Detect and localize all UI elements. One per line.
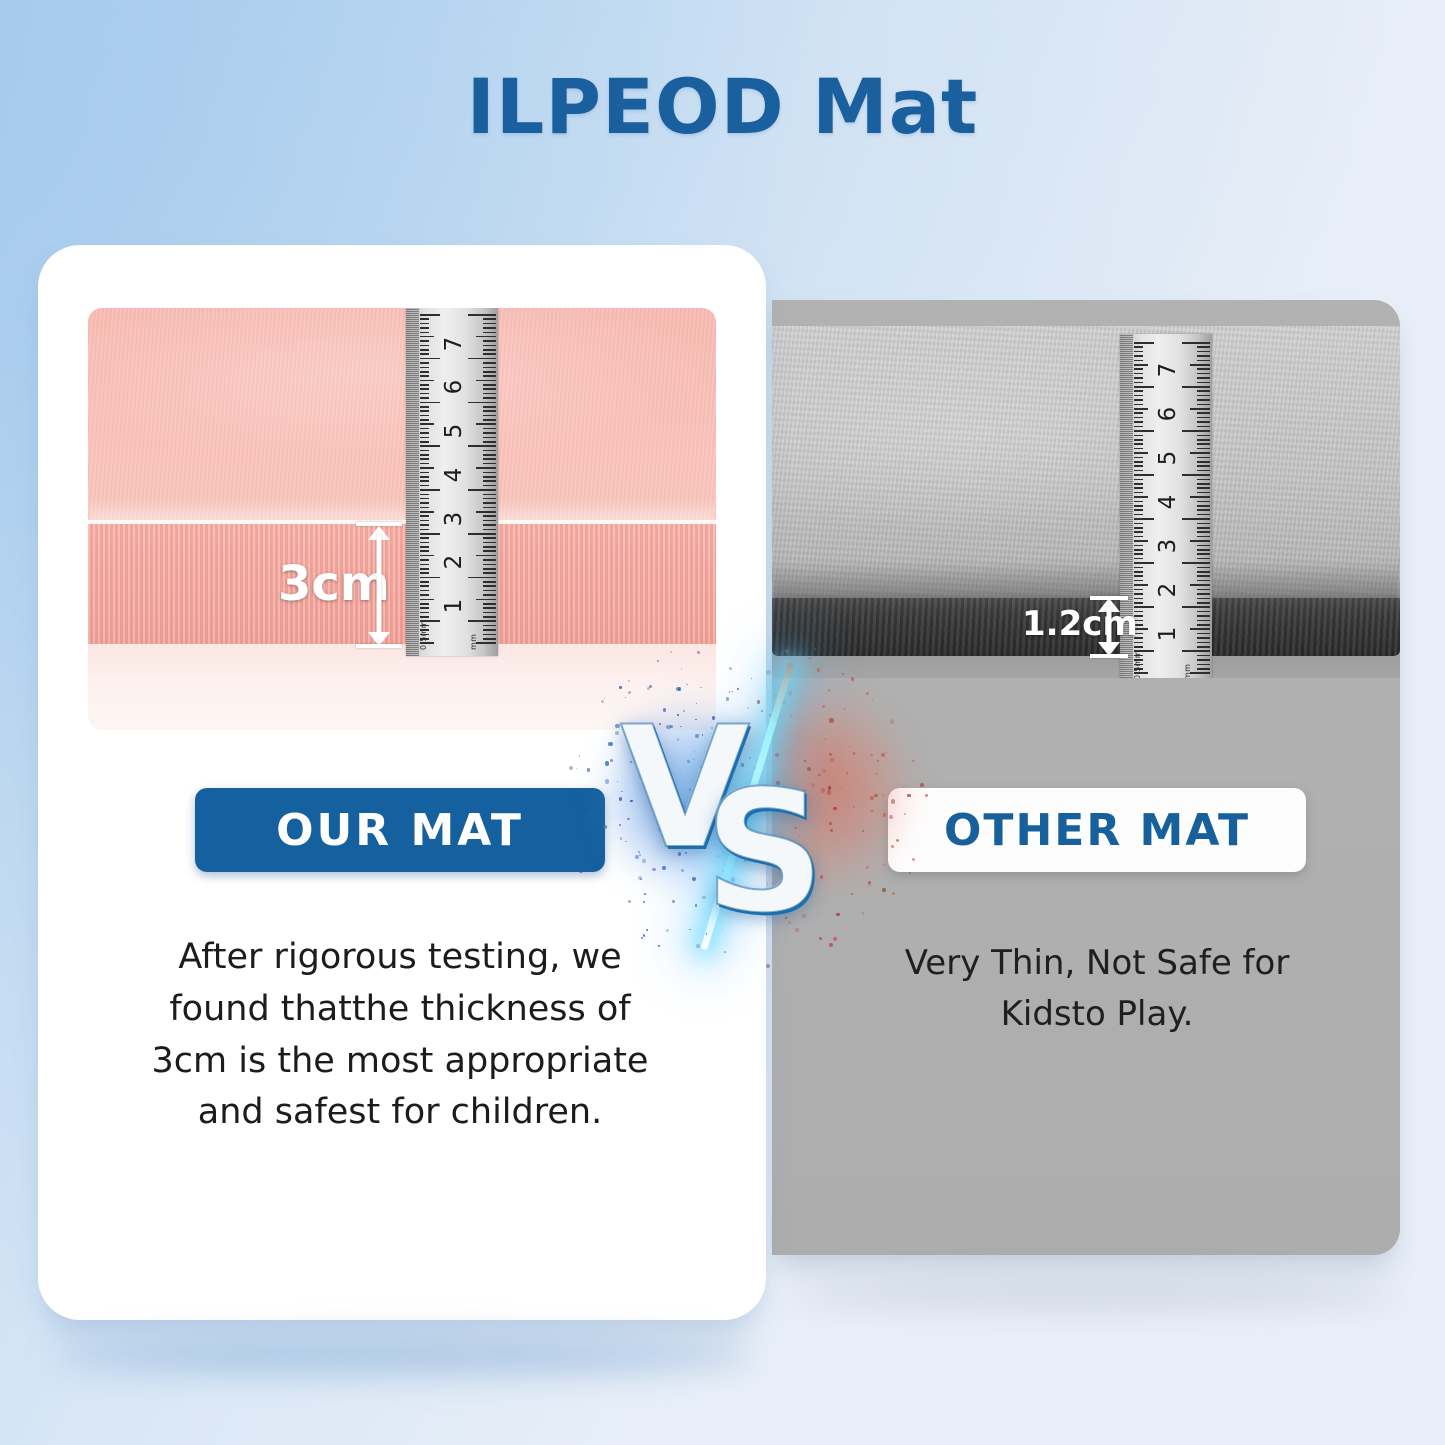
ruler-tick [1197, 593, 1210, 595]
ruler-tick [420, 515, 429, 517]
vs-fleck [729, 667, 732, 670]
ruler-tick [483, 432, 496, 434]
ruler-tick [483, 616, 496, 618]
vs-fleck [643, 901, 646, 904]
ruler-tick [1197, 417, 1210, 419]
ruler-knurled-edge [406, 308, 419, 656]
ruler-tick [420, 397, 429, 399]
ruler-tick [1197, 487, 1210, 489]
vs-fleck [615, 731, 618, 734]
ruler-tick [420, 507, 429, 509]
ruler-tick [1134, 545, 1143, 547]
ruler-tick [1197, 390, 1210, 392]
ruler-tick [483, 494, 496, 496]
ruler-tick [483, 371, 496, 373]
ruler-tick [420, 332, 429, 334]
ruler-tick [1197, 536, 1210, 538]
ruler-tick [1134, 382, 1143, 384]
ruler-number: 3 [441, 507, 467, 531]
ruler-tick [420, 607, 429, 609]
ruler-tick [1190, 408, 1210, 410]
ruler-tick [420, 450, 429, 452]
ruler-tick [468, 620, 496, 622]
ruler-tick [1197, 373, 1210, 375]
ruler-tick [483, 485, 496, 487]
ruler-tick [1197, 567, 1210, 569]
ruler-tick [483, 472, 496, 474]
ruler-tick [483, 441, 496, 443]
ruler-tick [1197, 523, 1210, 525]
ruler-tick [420, 380, 434, 382]
ruler-tick [1197, 668, 1210, 670]
ruler-tick [1197, 589, 1210, 591]
vs-fleck [882, 888, 885, 891]
ruler-tick [420, 577, 440, 579]
ruler-tick [420, 327, 429, 329]
vs-fleck [889, 815, 892, 818]
ruler-tick [1134, 540, 1148, 542]
ruler-tick [1197, 611, 1210, 613]
vs-fleck [605, 761, 609, 765]
vs-fleck [601, 700, 604, 703]
ruler-tick [1134, 435, 1143, 437]
other-mat-badge[interactable]: OTHER MAT [888, 788, 1306, 872]
vs-fleck [809, 658, 810, 659]
ruler-caption-left-right: 0.5mm [1133, 650, 1142, 678]
ruler-tick [1134, 465, 1143, 467]
ruler-tick [483, 564, 496, 566]
our-mat-badge[interactable]: OUR MAT [195, 788, 605, 872]
ruler-tick [483, 406, 496, 408]
ruler-tick [420, 323, 429, 325]
ruler-tick [483, 349, 496, 351]
vs-fleck [696, 944, 700, 948]
ruler-tick [420, 402, 440, 404]
ruler-tick [483, 454, 496, 456]
ruler-tick [1197, 571, 1210, 573]
ruler-tick [420, 406, 429, 408]
ruler-tick [420, 345, 429, 347]
vs-fleck [890, 719, 894, 723]
ruler-tick [1134, 553, 1143, 555]
ruler-tick [476, 336, 496, 338]
other-panel-drop-shadow [790, 1278, 1400, 1308]
ruler-tick [1197, 465, 1210, 467]
ruler-tick [420, 336, 434, 338]
ruler-tick [483, 537, 496, 539]
ruler-tick [1197, 355, 1210, 357]
ruler-tick [483, 480, 496, 482]
vs-fleck [920, 783, 924, 787]
ruler-tick [483, 607, 496, 609]
ruler-tick [420, 362, 429, 364]
vs-fleck [644, 893, 646, 895]
other-mat-measure-arrow [1096, 598, 1122, 656]
ruler-tick [476, 380, 496, 382]
vs-fleck [830, 758, 834, 762]
vs-fleck [766, 964, 770, 968]
ruler-tick [1134, 346, 1143, 348]
vs-fleck [605, 779, 610, 784]
vs-fleck [757, 700, 761, 704]
vs-fleck [870, 796, 874, 800]
ruler-tick [483, 415, 496, 417]
ruler-tick [1197, 346, 1210, 348]
vs-fleck [773, 694, 776, 697]
ruler-tick [1134, 646, 1143, 648]
vs-fleck [842, 673, 844, 675]
ruler-tick [483, 529, 496, 531]
ruler-tick [1197, 439, 1210, 441]
ruler-tick [483, 629, 496, 631]
ruler-tick [420, 585, 429, 587]
vs-fleck [569, 766, 573, 770]
ruler-tick [483, 345, 496, 347]
ruler-tick [420, 415, 429, 417]
ruler-tick [483, 546, 496, 548]
ruler-tick [420, 581, 429, 583]
ruler-tick [483, 612, 496, 614]
ruler-tick [420, 314, 440, 316]
ruler-tick [1134, 439, 1143, 441]
vs-fleck [700, 687, 702, 689]
ruler-tick [483, 367, 496, 369]
ruler-tick [420, 441, 429, 443]
other-mat-badge-label: OTHER MAT [944, 805, 1250, 856]
ruler-tick [476, 423, 496, 425]
ruler-tick [1197, 426, 1210, 428]
vs-letter-s: S [704, 754, 825, 950]
vs-fleck [604, 698, 605, 699]
vs-fleck [641, 937, 643, 939]
ruler-tick [483, 524, 496, 526]
ruler-tick [1197, 382, 1210, 384]
ruler-tick [483, 638, 496, 640]
ruler-tick [483, 384, 496, 386]
vs-fleck [628, 900, 631, 903]
ruler-tick [420, 428, 429, 430]
ruler-tick [1134, 351, 1143, 353]
vs-fleck [579, 868, 583, 872]
ruler-tick [420, 423, 434, 425]
vs-fleck [862, 830, 863, 831]
ruler-left: 1234567 0.5mm mm [406, 308, 498, 656]
ruler-tick [468, 489, 496, 491]
ruler-tick [483, 585, 496, 587]
ruler-caption-right-right: mm [1183, 664, 1192, 678]
vs-fleck [615, 724, 619, 728]
vs-fleck [829, 753, 832, 756]
ruler-tick [1197, 620, 1210, 622]
ruler-tick [1190, 584, 1210, 586]
ruler-tick [420, 494, 429, 496]
ruler-tick [1134, 360, 1143, 362]
ruler-number: 4 [1155, 490, 1181, 514]
vs-fleck [608, 742, 613, 747]
ruler-tick [1197, 659, 1210, 661]
ruler-tick [476, 599, 496, 601]
vs-fleck [686, 684, 688, 686]
ruler-tick [1197, 421, 1210, 423]
vs-fleck [829, 822, 832, 825]
vs-fleck [670, 651, 672, 653]
ruler-tick [468, 445, 496, 447]
ruler-tick [1134, 417, 1143, 419]
vs-fleck [603, 825, 607, 829]
ruler-tick [1197, 549, 1210, 551]
ruler-tick [1134, 457, 1143, 459]
ruler-tick [1182, 342, 1210, 344]
ruler-tick [420, 445, 440, 447]
ruler-tick [1182, 606, 1210, 608]
ruler-tick [1134, 575, 1143, 577]
vs-fleck [872, 699, 874, 701]
ruler-tick [476, 555, 496, 557]
ruler-tick [420, 572, 429, 574]
ruler-tick [1134, 501, 1143, 503]
ruler-number: 5 [1155, 446, 1181, 470]
vs-fleck [870, 754, 872, 756]
vs-fleck [829, 943, 833, 947]
ruler-tick [1182, 562, 1210, 564]
ruler-tick [483, 625, 496, 627]
ruler-number: 3 [1155, 534, 1181, 558]
vs-fleck [617, 781, 618, 782]
ruler-tick [1134, 571, 1143, 573]
ruler-tick [1197, 395, 1210, 397]
ruler-tick [420, 340, 429, 342]
vs-fleck [833, 937, 837, 941]
ruler-tick [1190, 540, 1210, 542]
ruler-tick [1197, 479, 1210, 481]
ruler-tick [420, 432, 429, 434]
arrow-shaft [377, 535, 382, 637]
vs-fleck [697, 651, 700, 654]
ruler-tick [1134, 443, 1143, 445]
ruler-tick [1197, 399, 1210, 401]
vs-fleck [619, 686, 622, 689]
ruler-tick [420, 393, 429, 395]
vs-fleck [689, 929, 691, 931]
vs-fleck [724, 951, 726, 953]
ruler-tick [483, 375, 496, 377]
ruler-tick [476, 511, 496, 513]
ruler-tick [1190, 496, 1210, 498]
ruler-tick [1134, 492, 1143, 494]
ruler-tick [1197, 602, 1210, 604]
ruler-tick [1134, 404, 1143, 406]
ruler-tick [1197, 509, 1210, 511]
ruler-tick [420, 568, 429, 570]
ruler-number: 1 [441, 594, 467, 618]
ruler-tick [1134, 487, 1143, 489]
ruler-tick [1134, 584, 1148, 586]
vs-fleck [681, 668, 682, 669]
ruler-tick [1197, 514, 1210, 516]
vs-fleck [751, 678, 752, 679]
ruler-tick [420, 564, 429, 566]
ruler-tick [420, 349, 429, 351]
vs-fleck [785, 649, 789, 653]
vs-fleck [761, 710, 763, 712]
ruler-tick [420, 463, 429, 465]
other-mat-description: Very Thin, Not Safe for Kidsto Play. [862, 938, 1332, 1040]
ruler-tick [1134, 377, 1143, 379]
vs-fleck [868, 884, 870, 886]
ruler-number: 1 [1155, 622, 1181, 646]
ruler-tick [420, 384, 429, 386]
ruler-tick [420, 472, 429, 474]
ruler-tick [1197, 598, 1210, 600]
ruler-tick [1197, 531, 1210, 533]
ruler-tick [1197, 575, 1210, 577]
vs-fleck [646, 929, 648, 931]
ruler-tick [1134, 527, 1143, 529]
vs-fleck [695, 904, 697, 906]
ruler-tick [1197, 642, 1210, 644]
ruler-tick [483, 634, 496, 636]
ruler-tick [483, 450, 496, 452]
ruler-tick [420, 485, 429, 487]
ruler-tick [1134, 390, 1143, 392]
ruler-tick [483, 419, 496, 421]
vs-fleck [576, 768, 577, 769]
ruler-tick [420, 371, 429, 373]
ruler-tick [1182, 430, 1210, 432]
ruler-tick [1134, 593, 1143, 595]
versus-emblem: V S [596, 662, 896, 962]
ruler-tick [1190, 672, 1210, 674]
ruler-tick [468, 314, 496, 316]
page-title: ILPEOD Mat [0, 62, 1445, 151]
ruler-tick [420, 388, 429, 390]
ruler-tick [420, 590, 429, 592]
ruler-tick [1197, 443, 1210, 445]
ruler-tick [1134, 509, 1143, 511]
vs-fleck [592, 802, 593, 803]
ruler-tick [420, 546, 429, 548]
ruler-tick [1197, 461, 1210, 463]
ruler-tick [483, 458, 496, 460]
ruler-tick [483, 318, 496, 320]
vs-fleck [912, 760, 914, 762]
ruler-tick [483, 594, 496, 596]
ruler-minor-ticks-right [1180, 334, 1210, 678]
ruler-tick [468, 402, 496, 404]
ruler-tick [420, 467, 434, 469]
ruler-tick [483, 388, 496, 390]
ruler-tick [420, 358, 440, 360]
ruler-tick [1134, 373, 1143, 375]
ruler-tick [1197, 580, 1210, 582]
ruler-tick [1134, 514, 1143, 516]
ruler-tick [483, 463, 496, 465]
ruler-tick [1190, 628, 1210, 630]
ruler-tick [420, 511, 434, 513]
ruler-tick [1197, 545, 1210, 547]
ruler-tick [1197, 435, 1210, 437]
vs-fleck [628, 680, 630, 682]
vs-fleck [892, 892, 895, 895]
ruler-tick [420, 375, 429, 377]
vs-fleck [766, 670, 771, 675]
ruler-tick [1134, 395, 1143, 397]
ruler-tick [420, 529, 429, 531]
ruler-tick [468, 358, 496, 360]
ruler-tick [1197, 553, 1210, 555]
vs-fleck [883, 813, 887, 817]
ruler-tick [1134, 496, 1148, 498]
ruler-tick [483, 581, 496, 583]
ruler-tick [1197, 655, 1210, 657]
vs-fleck [891, 799, 895, 803]
ruler-number: 6 [441, 375, 467, 399]
measure-cap-top-right [1090, 596, 1128, 600]
ruler-tick [483, 476, 496, 478]
pink-mat-thick-side [88, 524, 716, 644]
vs-fleck [643, 934, 646, 937]
ruler-tick [1134, 452, 1148, 454]
ruler-tick [1197, 448, 1210, 450]
ruler-number: 7 [441, 332, 467, 356]
vs-fleck [672, 900, 675, 903]
ruler-tick [1134, 567, 1143, 569]
ruler-tick [1182, 518, 1210, 520]
our-mat-description: After rigorous testing, we found thatthe… [130, 932, 670, 1139]
vs-fleck [587, 768, 590, 771]
vs-fleck [657, 660, 659, 662]
ruler-tick [468, 577, 496, 579]
ruler-tick [1197, 633, 1210, 635]
ruler-tick [420, 476, 429, 478]
ruler-number: 7 [1155, 358, 1181, 382]
ruler-tick [1134, 479, 1143, 481]
ruler-tick [1134, 589, 1143, 591]
ruler-tick [420, 520, 429, 522]
ruler-tick [420, 318, 429, 320]
ruler-tick [1134, 412, 1143, 414]
ruler-tick [483, 559, 496, 561]
vs-fleck [853, 806, 855, 808]
ruler-tick [1197, 483, 1210, 485]
ruler-tick [1182, 386, 1210, 388]
ruler-tick [483, 507, 496, 509]
ruler-tick [1134, 558, 1143, 560]
ruler-tick [420, 353, 429, 355]
ruler-number: 2 [441, 550, 467, 574]
ruler-tick [1134, 562, 1154, 564]
ruler-tick [1134, 430, 1154, 432]
our-mat-measure-arrow [366, 526, 392, 646]
ruler-tick [1134, 368, 1143, 370]
ruler-tick [420, 559, 429, 561]
ruler-tick [483, 428, 496, 430]
ruler-tick [483, 362, 496, 364]
ruler-number: 2 [1155, 578, 1181, 602]
ruler-tick [1134, 598, 1143, 600]
ruler-tick [1134, 355, 1143, 357]
ruler-tick [1134, 536, 1143, 538]
gray-mat-photo: 1234567 0.5mm mm 1.2cm [772, 326, 1400, 678]
vs-fleck [788, 691, 792, 695]
ruler-tick [483, 332, 496, 334]
ruler-tick [483, 590, 496, 592]
ruler-tick [420, 502, 429, 504]
ruler-tick [1134, 364, 1148, 366]
ruler-tick [1197, 470, 1210, 472]
vs-fleck [866, 866, 869, 869]
ruler-tick [483, 550, 496, 552]
